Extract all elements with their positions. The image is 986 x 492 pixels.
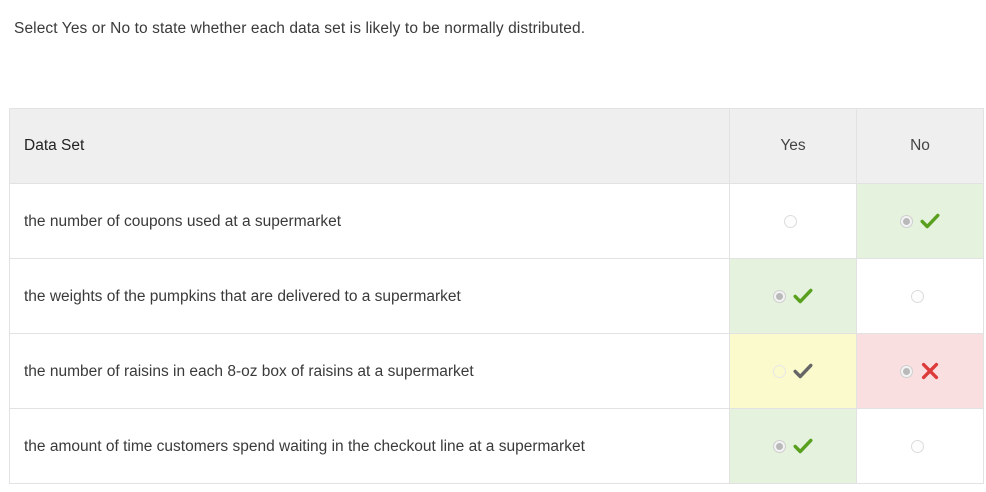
check-icon (792, 435, 814, 457)
dataset-label: the number of coupons used at a supermar… (10, 184, 730, 259)
answer-choice-group (773, 433, 814, 459)
column-header-dataset: Data Set (10, 109, 730, 184)
answer-cell-yes[interactable] (730, 334, 857, 409)
column-header-yes: Yes (730, 109, 857, 184)
radio-button-no[interactable] (900, 365, 913, 378)
radio-button-no[interactable] (911, 440, 924, 453)
answer-choice-group (784, 208, 803, 234)
answer-cell-no[interactable] (857, 184, 984, 259)
answer-cell-no[interactable] (857, 409, 984, 484)
answer-choice-group (773, 283, 814, 309)
table-row: the amount of time customers spend waiti… (10, 409, 984, 484)
table-row: the weights of the pumpkins that are del… (10, 259, 984, 334)
answer-choice-group (911, 283, 930, 309)
check-icon (792, 285, 814, 307)
answer-cell-yes[interactable] (730, 409, 857, 484)
table-body: the number of coupons used at a supermar… (10, 184, 984, 484)
answer-choice-group (773, 358, 814, 384)
column-header-no: No (857, 109, 984, 184)
table-header-row: Data Set Yes No (10, 109, 984, 184)
answer-cell-yes[interactable] (730, 259, 857, 334)
dataset-label: the weights of the pumpkins that are del… (10, 259, 730, 334)
table-row: the number of coupons used at a supermar… (10, 184, 984, 259)
quiz-page: Select Yes or No to state whether each d… (0, 0, 986, 492)
answer-choice-group (911, 433, 930, 459)
instruction-text: Select Yes or No to state whether each d… (14, 18, 585, 40)
radio-button-yes[interactable] (784, 215, 797, 228)
data-set-quiz-table: Data Set Yes No the number of coupons us… (9, 108, 984, 484)
radio-button-no[interactable] (900, 215, 913, 228)
answer-cell-no[interactable] (857, 259, 984, 334)
radio-button-yes[interactable] (773, 365, 786, 378)
answer-cell-yes[interactable] (730, 184, 857, 259)
check-icon (792, 360, 814, 382)
check-icon (919, 210, 941, 232)
table-row: the number of raisins in each 8-oz box o… (10, 334, 984, 409)
radio-button-yes[interactable] (773, 290, 786, 303)
radio-button-yes[interactable] (773, 440, 786, 453)
answer-cell-no[interactable] (857, 334, 984, 409)
radio-button-no[interactable] (911, 290, 924, 303)
dataset-label: the amount of time customers spend waiti… (10, 409, 730, 484)
cross-icon (919, 360, 941, 382)
dataset-label: the number of raisins in each 8-oz box o… (10, 334, 730, 409)
answer-choice-group (900, 208, 941, 234)
table-header: Data Set Yes No (10, 109, 984, 184)
answer-choice-group (900, 358, 941, 384)
